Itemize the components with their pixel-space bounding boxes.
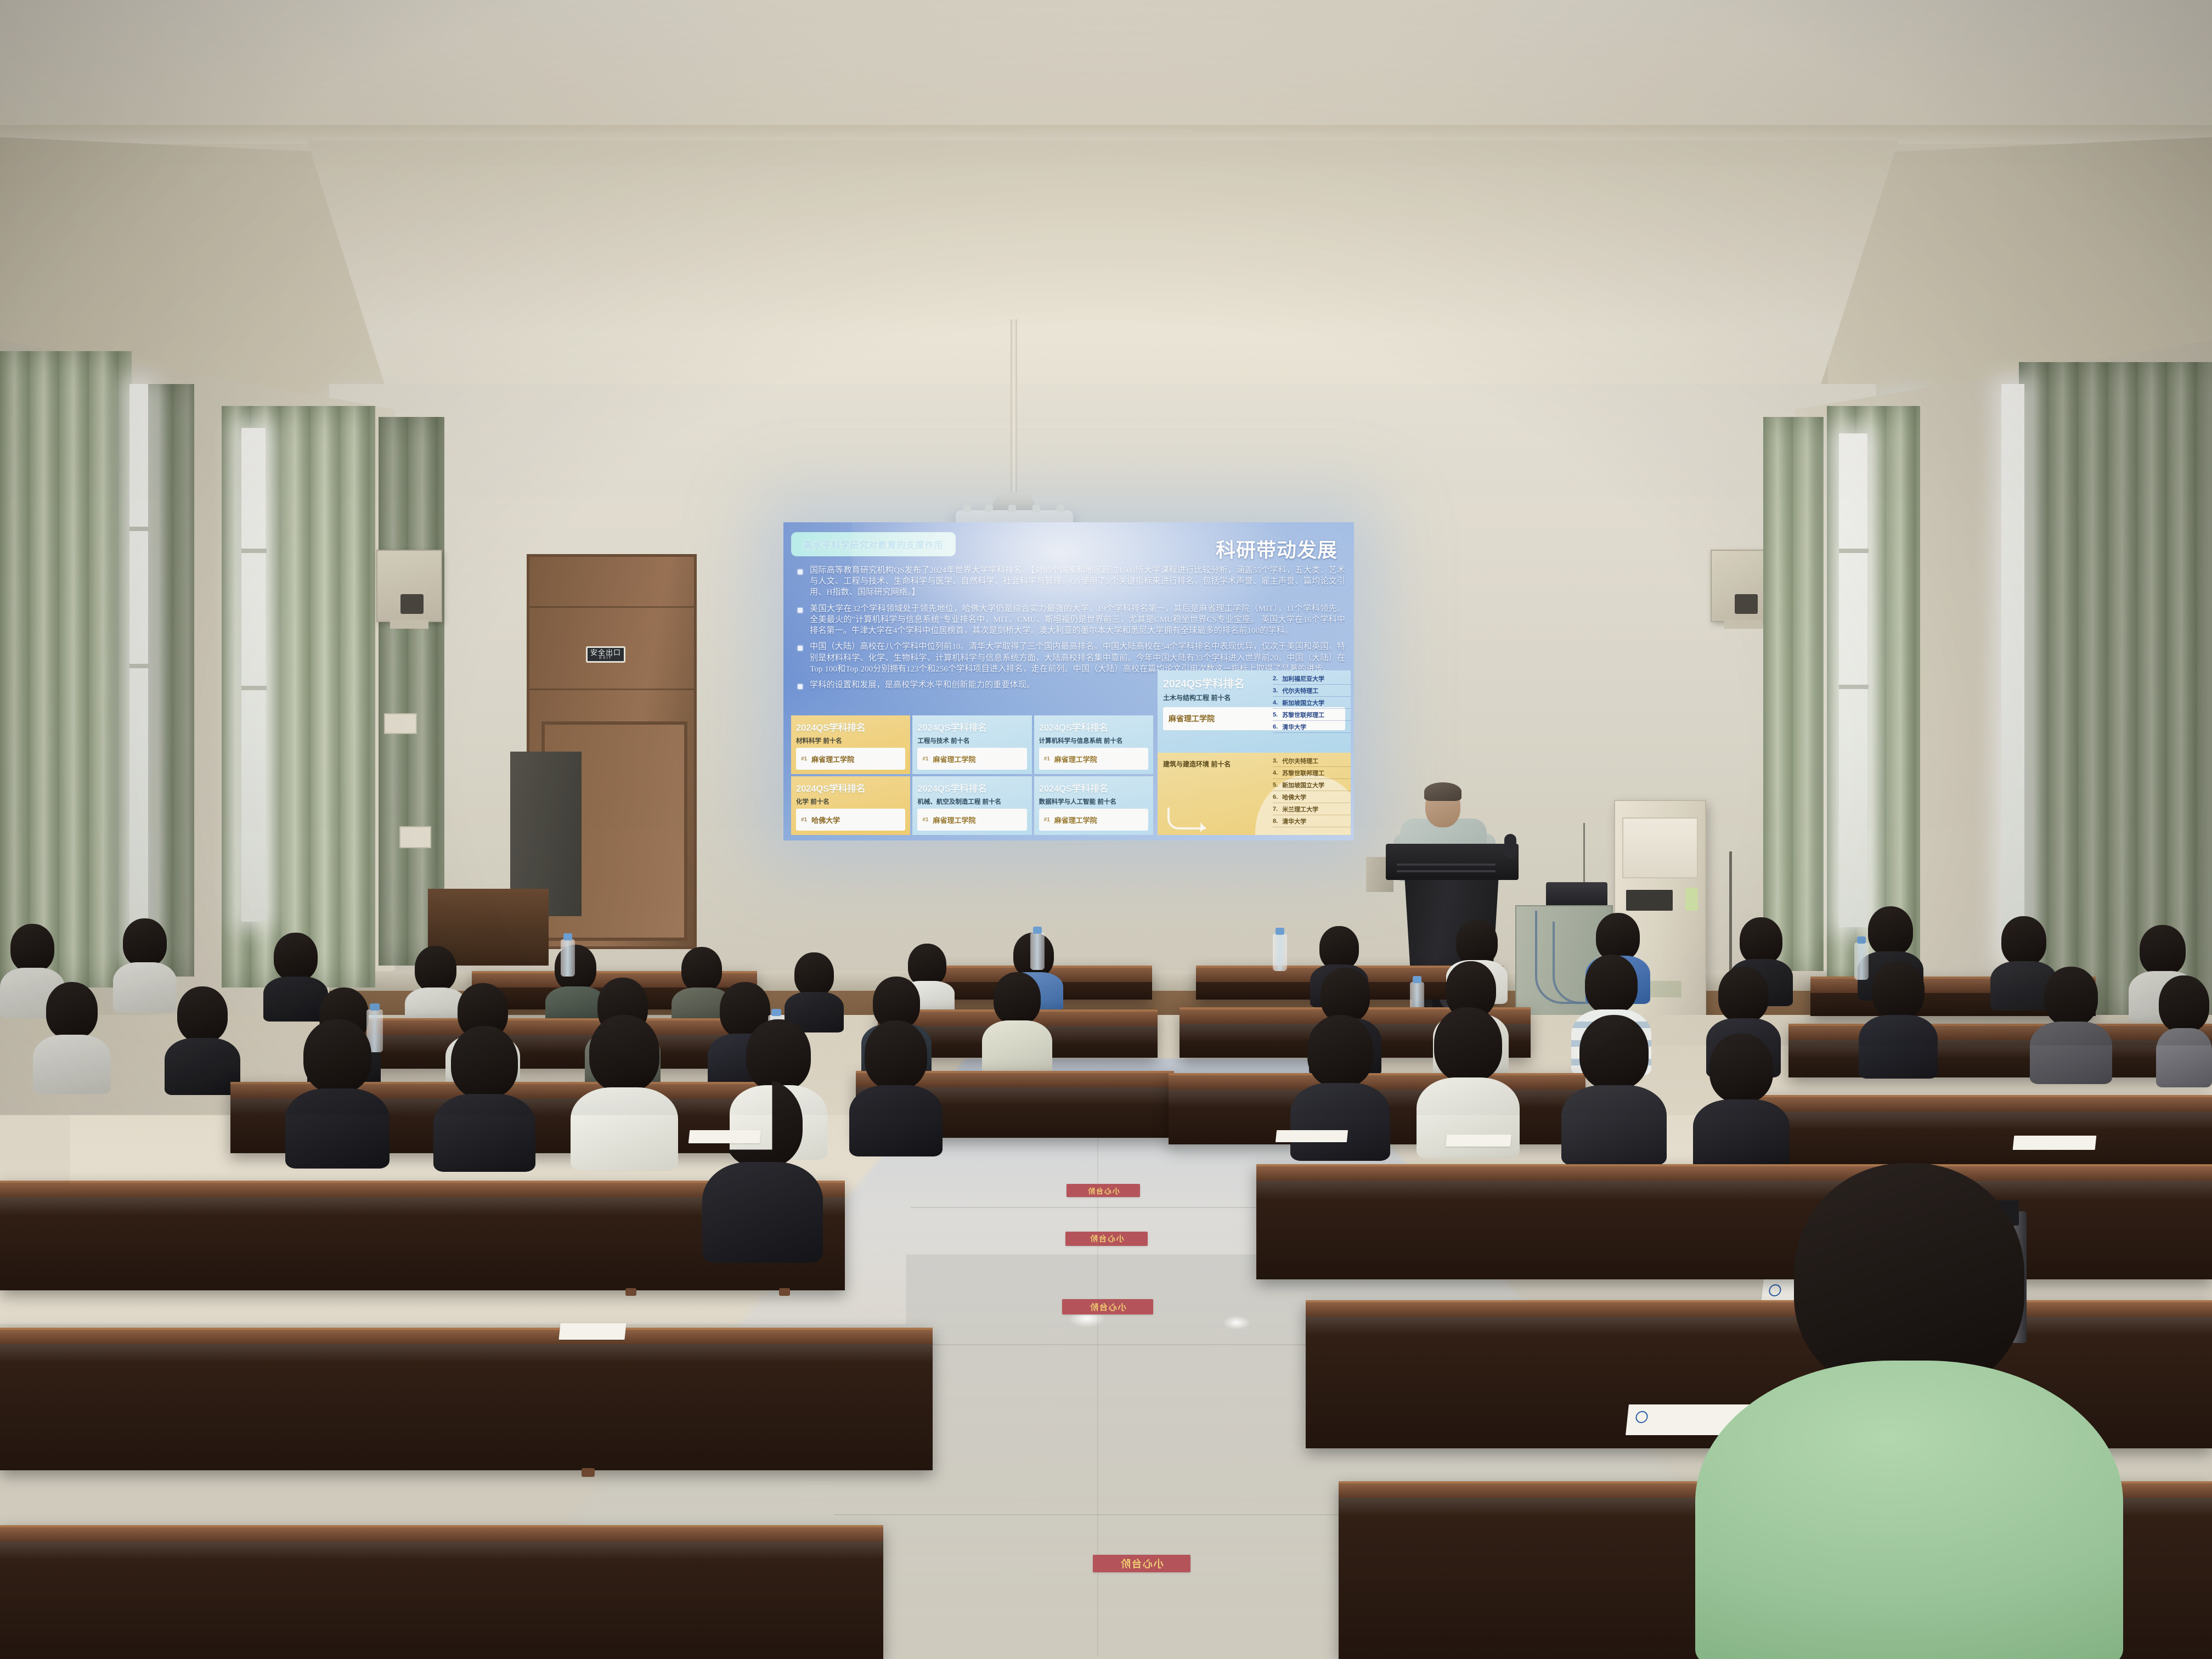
attendee-head	[1307, 1015, 1373, 1087]
qs-rank-item: 3. 代尔夫特理工	[1273, 755, 1351, 767]
attendee-head	[794, 952, 834, 996]
qs-rank-university: 哈佛大学	[1282, 793, 1306, 802]
qs-rank-item: 3. 代尔夫特理工	[1273, 685, 1351, 697]
projector-knob	[985, 505, 993, 512]
slide-heading: 科研带动发展	[1216, 534, 1338, 563]
bottle-cap	[1033, 927, 1042, 934]
qs-card-grid: 2024QS学科排名 材料科学 前十名 #1 麻省理工学院 2024QS学科排名…	[791, 715, 1153, 835]
qs-card-rank-row: #1 麻省理工学院	[917, 748, 1026, 770]
qs-right-panel: 2024QS学科排名 土木与结构工程 前十名 麻省理工学院 2. 加利福尼亚大学…	[1158, 670, 1351, 835]
desk-sheen	[362, 1035, 768, 1053]
qs-rank-number: 3.	[1273, 758, 1278, 764]
step-warning-sticker: 小心台阶	[1062, 1299, 1153, 1314]
qs-card-rank-name: 麻省理工学院	[1169, 713, 1215, 724]
attendee-head	[1585, 955, 1638, 1014]
qs-rank-list: 2. 加利福尼亚大学 3. 代尔夫特理工 4. 新加坡国立大学 5.	[1269, 670, 1351, 753]
step-warning-text: 小心台阶	[1120, 1556, 1164, 1571]
attendee	[2156, 975, 2212, 1085]
qs-card: 2024QS学科排名 数据科学与人工智能 前十名 #1 麻省理工学院	[1034, 776, 1153, 835]
slide-bullet: 美国大学在32个学科领域处于领先地位，哈佛大学仍是综合实力最强的大学，19个学科…	[793, 603, 1345, 637]
qs-rank-university: 加利福尼亚大学	[1282, 674, 1324, 683]
attendee-head	[723, 1080, 803, 1167]
window-right-inner	[1839, 433, 1867, 927]
attendee-head	[2001, 916, 2046, 966]
attendee-head	[123, 918, 167, 967]
presenter-hair	[1424, 782, 1462, 801]
qs-rank-number: 5.	[1273, 782, 1278, 788]
qs-card-rank-name: 麻省理工学院	[1054, 754, 1097, 764]
attendee-torso	[2156, 1028, 2212, 1087]
attendee-head	[2044, 967, 2098, 1026]
curtain-left-pillar	[379, 417, 444, 966]
attendee-head	[994, 972, 1041, 1025]
window-mullion	[1839, 549, 1869, 553]
foreground-attendee	[1695, 1163, 2123, 1659]
desk-sheen	[0, 1344, 933, 1363]
qs-rank-number: 6.	[1273, 724, 1278, 730]
wall-speaker-left	[376, 550, 442, 622]
attendee	[0, 1130, 99, 1273]
qs-rank-number: 4.	[1273, 699, 1278, 706]
attendee	[1561, 1015, 1667, 1164]
attendee-torso	[982, 1020, 1052, 1075]
curtain-left-mid	[144, 384, 194, 977]
attendee-torso	[0, 1207, 99, 1278]
attendee-head	[274, 933, 318, 981]
slide-surface: 高水平科学研究对教育的支撑作用 科研带动发展 国际高等教育研究机构QS发布了20…	[783, 522, 1354, 840]
qs-rank-item: 2. 加利福尼亚大学	[1273, 673, 1351, 685]
desk-sheen	[0, 1542, 883, 1560]
bottle-cap	[1413, 976, 1421, 983]
exit-sign-chinese: 安全出口	[590, 649, 621, 656]
bottle-cap	[1276, 928, 1284, 935]
qs-card-rank-num: #1	[801, 756, 807, 762]
qs-card-rank-num: #1	[922, 756, 928, 762]
step-warning-sticker: 小心台阶	[1066, 1184, 1140, 1197]
attendee-head	[0, 1130, 77, 1212]
desk-sheen	[1788, 1040, 2212, 1059]
foreground-attendee-torso	[1695, 1361, 2123, 1659]
attendee-head	[1740, 917, 1782, 964]
attendee-torso	[849, 1085, 943, 1156]
attendee	[33, 982, 111, 1092]
attendee-torso	[571, 1087, 678, 1171]
qs-card-subject: 工程与技术 前十名	[917, 736, 1026, 745]
qs-rank-university: 清华大学	[1282, 817, 1306, 826]
ac-grille	[1622, 817, 1698, 878]
wall-switch-plate	[384, 713, 417, 734]
attendee-head	[2159, 975, 2209, 1032]
qs-rank-university: 米兰理工大学	[1282, 805, 1318, 814]
qs-card-rank-num: #1	[1044, 756, 1050, 762]
attendee-torso	[165, 1038, 240, 1095]
attendee	[571, 1015, 678, 1169]
qs-card-badge: 2024QS学科排名	[1039, 720, 1148, 733]
qs-rank-university: 新加坡国立大学	[1282, 698, 1324, 707]
slide-bullet: 中国（大陆）高校在八个学科中位列前10。清华大学取得了三个国内最高排名。中国大陆…	[793, 641, 1345, 675]
attendee	[285, 1019, 390, 1166]
qs-rank-item: 4. 苏黎世联邦理工	[1273, 767, 1351, 779]
speaker-bracket	[1724, 620, 1763, 629]
qs-card-badge: 2024QS学科排名	[1039, 781, 1148, 794]
attendee-head	[1434, 1007, 1502, 1082]
qs-card-rank-num: #1	[801, 817, 807, 823]
ac-energy-label	[1685, 888, 1698, 911]
bottle-cap	[1857, 936, 1866, 944]
desk-sheen	[1756, 1111, 2212, 1130]
qs-card-subject: 计算机科学与信息系统 前十名	[1039, 736, 1148, 745]
projector-knob	[1032, 505, 1040, 512]
attendee-head	[865, 1020, 927, 1090]
qs-rank-university: 苏黎世联邦理工	[1282, 710, 1324, 719]
qs-rank-university: 新加坡国立大学	[1282, 781, 1324, 789]
qs-rank-list: 3. 代尔夫特理工 4. 苏黎世联邦理工 5. 新加坡国立大学 6.	[1269, 753, 1351, 835]
qs-rank-number: 3.	[1273, 687, 1278, 694]
qs-rank-university: 苏黎世联邦理工	[1282, 769, 1324, 777]
ceiling-upper-slab	[0, 0, 2212, 137]
desk-top	[1788, 1026, 2212, 1040]
qs-card-badge: 2024QS学科排名	[917, 720, 1026, 733]
qs-rank-university: 代尔夫特理工	[1282, 686, 1318, 695]
attendee-torso	[33, 1035, 111, 1094]
lectern-vent	[1397, 864, 1496, 866]
qs-rank-item: 5. 新加坡国立大学	[1273, 779, 1351, 791]
qs-rank-number: 4.	[1273, 770, 1278, 776]
speaker-driver-icon	[1735, 594, 1758, 614]
attendee	[433, 1026, 535, 1170]
attendee-torso	[1290, 1083, 1390, 1161]
attendee-torso	[1693, 1099, 1790, 1171]
projector-knob	[1008, 505, 1016, 512]
handout-paper	[2013, 1136, 2097, 1150]
bench-desk	[362, 1018, 768, 1069]
window-mullion	[129, 664, 149, 668]
qs-card-rank-name: 哈佛大学	[811, 815, 840, 825]
qs-card-rank-row: #1 麻省理工学院	[1039, 809, 1148, 831]
qs-rank-item: 4. 新加坡国立大学	[1273, 697, 1351, 709]
attendee-torso	[433, 1094, 535, 1172]
qs-rank-item: 6. 清华大学	[1273, 721, 1351, 733]
speaker-bracket	[390, 620, 428, 629]
attendee-head	[1709, 1034, 1773, 1103]
window-left-inner	[241, 428, 266, 922]
desk-knob	[625, 1288, 636, 1296]
ac-display-panel	[1626, 890, 1673, 911]
lectern-vent	[1397, 870, 1496, 872]
qs-card-rank-name: 麻省理工学院	[933, 754, 975, 764]
step-warning-sticker: 小心台阶	[1065, 1232, 1148, 1246]
qs-card-rank-row: #1 麻省理工学院	[1039, 748, 1148, 770]
step-warning-sticker: 小心台阶	[1093, 1555, 1190, 1572]
attendee	[1859, 961, 1938, 1077]
attendee-torso	[1859, 1015, 1938, 1079]
window-left	[129, 384, 148, 955]
attendee-head	[589, 1015, 659, 1092]
qs-rank-number: 6.	[1273, 794, 1278, 800]
desk-knob	[779, 1288, 790, 1296]
qs-card-subject: 化学 前十名	[796, 797, 905, 806]
bench-desk	[1788, 1024, 2212, 1077]
qs-card: 2024QS学科排名 机械、航空及制造工程 前十名 #1 麻省理工学院	[912, 776, 1031, 835]
qs-card-rank-num: #1	[1044, 817, 1050, 823]
attendee-head	[1579, 1015, 1649, 1090]
attendee-head	[1319, 926, 1359, 970]
qs-card-rank-name: 麻省理工学院	[933, 815, 975, 825]
water-bottle	[1273, 934, 1287, 971]
qs-card-badge: 2024QS学科排名	[917, 781, 1026, 794]
qs-right-card-bottom: 建筑与建造环境 前十名 3. 代尔夫特理工 4. 苏黎世联邦理工 5.	[1158, 753, 1351, 835]
attendee-head	[1868, 906, 1913, 956]
curtain-left-far	[0, 351, 132, 988]
window-mullion	[129, 527, 149, 531]
handout-paper	[1276, 1130, 1348, 1142]
attendee	[2030, 967, 2112, 1083]
attendee-head	[451, 1026, 518, 1098]
water-bottle	[1030, 933, 1045, 970]
qs-rank-number: 8.	[1273, 818, 1278, 825]
slide-section-tag: 高水平科学研究对教育的支撑作用	[791, 532, 956, 556]
handout-paper	[558, 1323, 626, 1340]
qs-rank-item: 8. 清华大学	[1273, 815, 1351, 827]
door-seam	[529, 689, 694, 690]
emergency-exit-sign: 安全出口 EXIT	[586, 646, 625, 663]
desk-front	[0, 1344, 933, 1470]
attendee-torso	[285, 1088, 390, 1169]
attendee-head	[10, 924, 54, 972]
qs-card-rank-name: 麻省理工学院	[811, 754, 854, 764]
qs-rank-number: 2.	[1273, 675, 1278, 682]
desk-top	[1756, 1097, 2212, 1111]
qs-rank-number: 5.	[1273, 712, 1278, 718]
curved-arrow-icon	[1167, 808, 1206, 830]
handout-paper	[1446, 1135, 1511, 1147]
antenna-icon	[1583, 823, 1585, 883]
attendee-head	[1718, 967, 1769, 1023]
attendee	[849, 1020, 943, 1154]
attendee-head	[1321, 968, 1370, 1023]
curtain-right-pillar	[1763, 417, 1824, 971]
water-bottle	[561, 939, 575, 977]
slide-bullet: 国际高等教育研究机构QS发布了2024年世界大学学科排名。【对95个国家和地区超…	[793, 565, 1345, 599]
step-warning-text: 小心台阶	[1089, 1301, 1126, 1313]
bottle-cap	[563, 933, 572, 940]
qs-card-subject: 材料科学 前十名	[796, 736, 905, 745]
attendee-torso	[702, 1162, 823, 1263]
bench-desk	[0, 1525, 883, 1659]
bottle-cap	[771, 1009, 781, 1016]
qs-card-rank-name: 麻省理工学院	[1054, 815, 1097, 825]
bench-desk	[0, 1328, 933, 1470]
qs-card: 2024QS学科排名 材料科学 前十名 #1 麻省理工学院	[791, 715, 910, 774]
desk-knob	[582, 1468, 595, 1477]
projector-knob	[1057, 505, 1064, 512]
qs-rank-item: 6. 哈佛大学	[1273, 791, 1351, 803]
qs-card-rank-num: #1	[922, 817, 928, 823]
step-warning-text: 小心台阶	[1089, 1233, 1124, 1244]
qs-card-rank-row: #1 哈佛大学	[796, 809, 905, 831]
lectern-microphone	[1504, 834, 1516, 858]
lecture-hall-photo: 安全出口 EXIT EPSON 高水平科学研究对教育的支撑作用 科研带动发展 国…	[0, 0, 2212, 1659]
qs-rank-university: 代尔夫特理工	[1282, 757, 1318, 765]
attendee-head	[46, 982, 98, 1039]
qs-rank-number: 7.	[1273, 806, 1278, 812]
door-seam	[529, 606, 694, 608]
attendee	[1693, 1034, 1790, 1169]
window-right-far	[2001, 384, 2024, 960]
attendee-head	[303, 1019, 371, 1093]
projector-pole	[1011, 319, 1017, 500]
floor-light-glint	[1222, 1316, 1251, 1330]
exit-sign-english: EXIT	[599, 656, 612, 660]
qs-right-card-top: 2024QS学科排名 土木与结构工程 前十名 麻省理工学院 2. 加利福尼亚大学…	[1158, 670, 1351, 753]
qs-card-subject: 机械、航空及制造工程 前十名	[917, 797, 1026, 806]
attendee	[165, 986, 240, 1093]
desk-top	[362, 1020, 768, 1035]
qs-rank-university: 清华大学	[1282, 723, 1306, 731]
attendee-head	[177, 986, 228, 1042]
bench-desk	[1756, 1095, 2212, 1172]
window-mullion	[241, 549, 267, 553]
attendee-torso	[1561, 1085, 1667, 1165]
step-warning-text: 小心台阶	[1087, 1186, 1120, 1196]
qs-card: 2024QS学科排名 工程与技术 前十名 #1 麻省理工学院	[912, 715, 1031, 774]
attendee-head	[2140, 925, 2186, 975]
qs-rank-item: 7. 米兰理工大学	[1273, 803, 1351, 815]
speaker-driver-icon	[400, 594, 424, 614]
qs-card: 2024QS学科排名 化学 前十名 #1 哈佛大学	[791, 776, 910, 835]
attendee	[702, 1080, 823, 1261]
lectern-control-desk	[1386, 844, 1519, 880]
qs-card-badge: 2024QS学科排名	[796, 781, 905, 794]
window-mullion	[1839, 685, 1869, 689]
attendee-head	[1872, 961, 1925, 1019]
bottle-cap	[370, 1003, 380, 1011]
desk-top	[0, 1527, 883, 1542]
projection-screen: 高水平科学研究对教育的支撑作用 科研带动发展 国际高等教育研究机构QS发布了20…	[783, 522, 1354, 840]
foreground-attendee-head	[1794, 1163, 2024, 1393]
equipment-monitor	[1546, 882, 1607, 907]
attendee-head	[1596, 913, 1640, 961]
projector-knob	[963, 505, 971, 512]
attendee	[982, 972, 1052, 1073]
qs-card-rank-row: #1 麻省理工学院	[796, 748, 905, 770]
window-mullion	[241, 686, 267, 690]
qs-card: 2024QS学科排名 计算机科学与信息系统 前十名 #1 麻省理工学院	[1034, 715, 1153, 774]
qs-card-badge: 2024QS学科排名	[796, 720, 905, 733]
attendee-head	[1456, 919, 1498, 966]
qs-card-rank-row: #1 麻省理工学院	[917, 809, 1026, 831]
qs-rank-item: 5. 苏黎世联邦理工	[1273, 709, 1351, 721]
attendee-torso	[2030, 1022, 2112, 1084]
light-switch-panel[interactable]	[399, 826, 431, 848]
desk-top	[0, 1330, 933, 1344]
qs-card-subject: 数据科学与人工智能 前十名	[1039, 797, 1148, 806]
